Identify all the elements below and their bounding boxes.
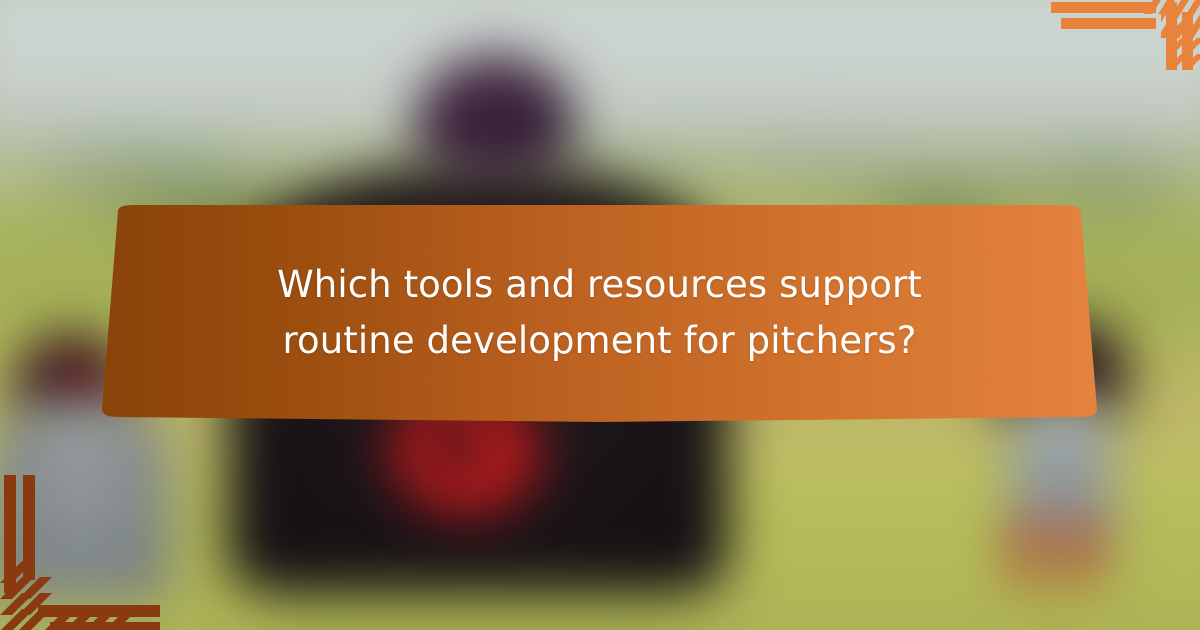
page-title: Which tools and resources support routin… bbox=[220, 257, 980, 369]
player-left-body bbox=[0, 400, 170, 600]
headline-banner: Which tools and resources support routin… bbox=[100, 203, 1099, 423]
social-card-canvas: Which tools and resources support routin… bbox=[0, 0, 1200, 630]
player-right-sock-left bbox=[1015, 515, 1043, 585]
banner-text-container: Which tools and resources support routin… bbox=[100, 203, 1099, 423]
pitcher-center-number-counter bbox=[426, 422, 488, 468]
player-right-sock-right bbox=[1068, 515, 1096, 585]
